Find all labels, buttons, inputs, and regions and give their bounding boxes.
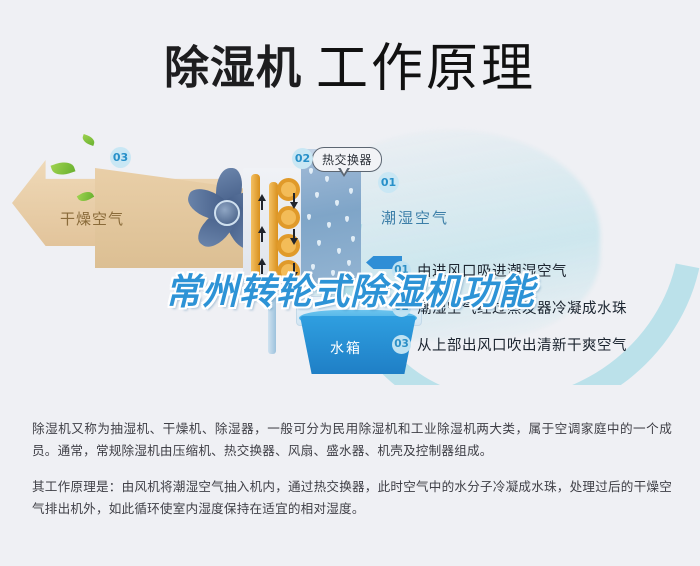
- body-copy: 除湿机又称为抽湿机、干燥机、除湿器，一般可分为民用除湿机和工业除湿机两大类，属于…: [32, 418, 672, 526]
- water-tank-label: 水箱: [330, 338, 362, 358]
- page-title-primary: 除湿机: [164, 41, 302, 94]
- process-step: 02 潮湿空气经过蒸发器冷凝成水珠: [392, 292, 692, 322]
- process-step: 03 从上部出风口吹出清新干爽空气: [392, 329, 692, 359]
- paragraph-1: 除湿机又称为抽湿机、干燥机、除湿器，一般可分为民用除湿机和工业除湿机两大类，属于…: [32, 418, 672, 462]
- infographic-page: 除湿机工作原理 干燥空气: [0, 0, 700, 566]
- diagram-badge-03: 03: [110, 147, 131, 168]
- process-step-list: 01 由进风口吸进潮湿空气 02 潮湿空气经过蒸发器冷凝成水珠 03 从上部出风…: [392, 255, 692, 366]
- step-number: 01: [392, 261, 411, 280]
- page-title: 除湿机工作原理: [0, 26, 700, 101]
- step-number: 03: [392, 335, 411, 354]
- step-text: 潮湿空气经过蒸发器冷凝成水珠: [417, 297, 627, 318]
- callout-pointer: [338, 168, 350, 177]
- leaf-icon: [51, 159, 76, 178]
- process-step: 01 由进风口吸进潮湿空气: [392, 255, 692, 285]
- drain-pipe: [268, 296, 276, 354]
- leaf-icon: [81, 134, 96, 146]
- condenser-panel: [243, 168, 305, 284]
- diagram-badge-01: 01: [378, 172, 399, 193]
- dry-air-label: 干燥空气: [60, 208, 124, 229]
- step-number: 02: [392, 298, 411, 317]
- evaporator-panel: [301, 158, 361, 284]
- humid-air-label: 潮湿空气: [381, 207, 449, 228]
- paragraph-2: 其工作原理是：由风机将潮湿空气抽入机内，通过热交换器，此时空气中的水分子冷凝成水…: [32, 476, 672, 520]
- diagram-badge-02: 02: [292, 148, 313, 169]
- page-title-secondary: 工作原理: [316, 39, 536, 99]
- step-text: 由进风口吸进潮湿空气: [417, 260, 567, 281]
- machine-internals: [243, 158, 361, 294]
- step-text: 从上部出风口吹出清新干爽空气: [417, 334, 627, 355]
